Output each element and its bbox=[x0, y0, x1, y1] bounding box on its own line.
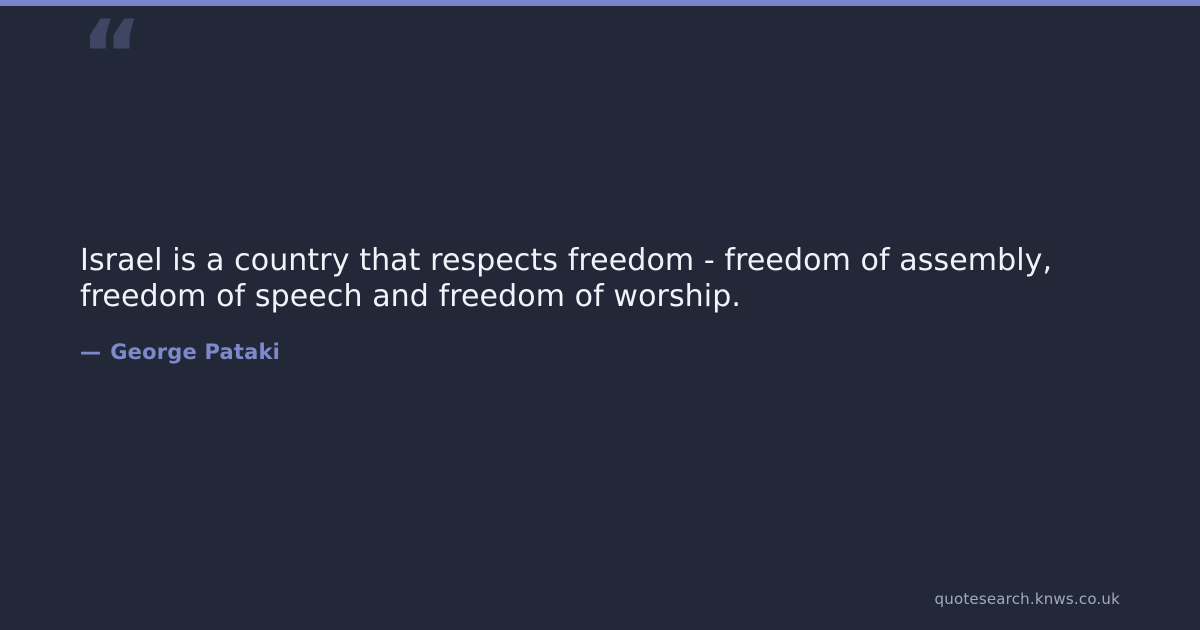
quote-card: “ Israel is a country that respects free… bbox=[0, 0, 1200, 630]
open-quote-icon: “ bbox=[80, 8, 141, 104]
quote-block: Israel is a country that respects freedo… bbox=[80, 243, 1140, 315]
attribution-author-name: George Pataki bbox=[110, 338, 280, 366]
site-watermark: quotesearch.knws.co.uk bbox=[935, 590, 1120, 608]
top-accent-bar bbox=[0, 0, 1200, 6]
attribution-dash: — bbox=[80, 338, 101, 366]
quote-text: Israel is a country that respects freedo… bbox=[80, 243, 1140, 315]
quote-attribution: — George Pataki bbox=[80, 338, 280, 366]
